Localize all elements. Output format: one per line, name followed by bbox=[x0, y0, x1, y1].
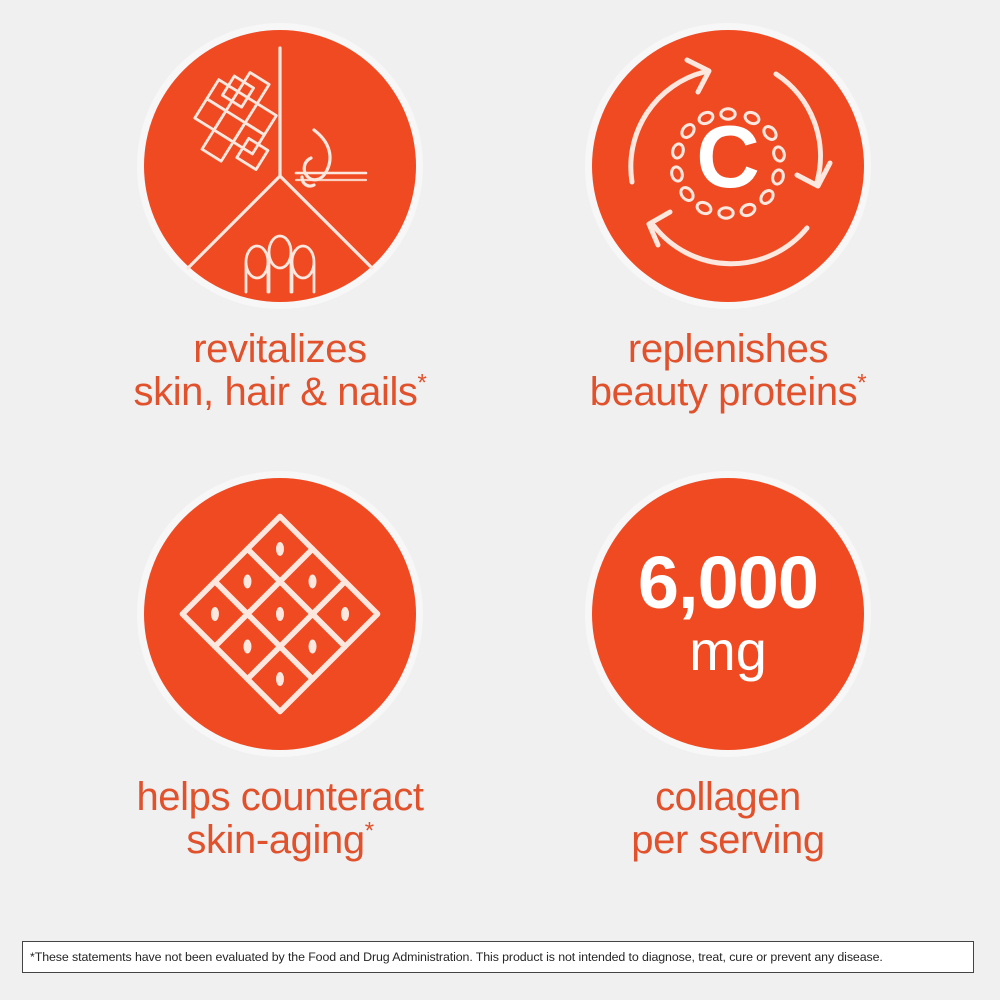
dosage-value: 6,000 bbox=[638, 547, 818, 620]
benefit-caption-revitalizes: revitalizes skin, hair & nails* bbox=[134, 328, 427, 414]
benefits-grid: revitalizes skin, hair & nails* bbox=[0, 0, 1000, 920]
dosage-amount: 6,000 mg bbox=[592, 478, 864, 750]
dosage-unit: mg bbox=[689, 622, 767, 681]
benefit-card-replenishes: C replenishes beauty proteins* bbox=[508, 30, 948, 470]
benefit-card-revitalizes: revitalizes skin, hair & nails* bbox=[60, 30, 500, 470]
skin-cell-lattice-icon bbox=[144, 478, 416, 750]
benefit-card-collagen-amount: 6,000 mg collagen per serving bbox=[508, 478, 948, 918]
fda-disclaimer-box: *These statements have not been evaluate… bbox=[22, 941, 974, 973]
svg-text:C: C bbox=[696, 107, 760, 206]
benefit-card-counteract-aging: helps counteract skin-aging* bbox=[60, 478, 500, 918]
fda-disclaimer-text: *These statements have not been evaluate… bbox=[30, 950, 883, 964]
benefit-caption-collagen-amount: collagen per serving bbox=[631, 776, 824, 862]
collagen-renewal-cycle-icon: C bbox=[592, 30, 864, 302]
footnote-marker: * bbox=[365, 818, 374, 845]
benefit-caption-counteract-aging: helps counteract skin-aging* bbox=[136, 776, 423, 862]
skin-hair-nails-icon bbox=[144, 30, 416, 302]
benefit-caption-replenishes: replenishes beauty proteins* bbox=[590, 328, 866, 414]
footnote-marker: * bbox=[418, 370, 427, 397]
dosage-badge-icon: 6,000 mg bbox=[592, 478, 864, 750]
footnote-marker: * bbox=[857, 370, 866, 397]
